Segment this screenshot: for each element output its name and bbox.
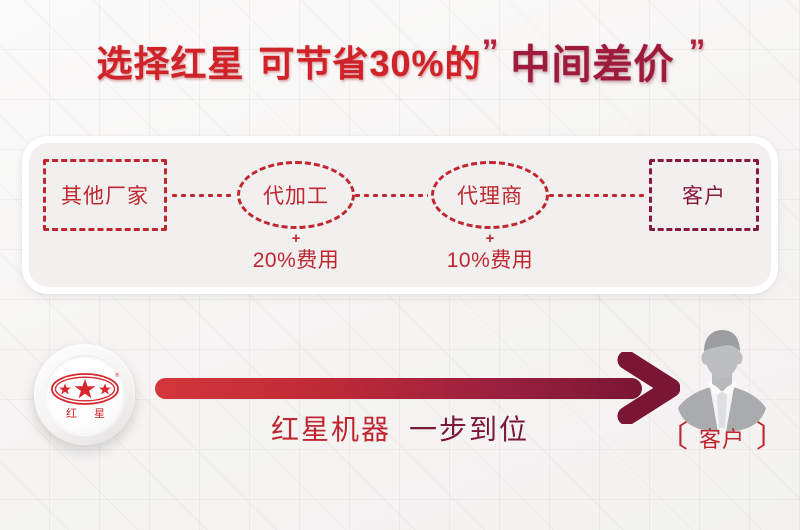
bracket-right-icon: 〕 [756,423,786,453]
flow-node-label: 客户 [682,180,726,210]
hongxing-logo-badge[interactable]: ® 红 星 [34,344,135,445]
fee-label-2: + 10%费用 [410,231,570,274]
flow-node-label: 代加工 [263,180,329,210]
hongxing-logo-icon: ® 红 星 [49,369,121,421]
middleman-flow-card: 其他厂家 代加工 + 20%费用 代理商 + 10%费用 客户 [22,136,778,294]
headline-part1: 选择红星 [96,35,244,87]
progress-arrow-icon [150,352,680,424]
fee-label-1: + 20%费用 [216,231,376,274]
poster-canvas: 选择红星 可节省30%的 ” 中间差价 ” 其他厂家 代加工 + 20%费用 [0,0,800,530]
logo-char-1: 红 [66,407,77,420]
registered-mark-icon: ® [115,372,119,379]
fee-amount: 10%费用 [410,248,570,274]
flow-diagram: 其他厂家 代加工 + 20%费用 代理商 + 10%费用 客户 [29,143,771,287]
logo-inner-disc: ® 红 星 [45,355,125,435]
logo-char-2: 星 [94,407,105,420]
flow-node-oem-processing[interactable]: 代加工 [237,161,355,229]
connector-dots-1 [170,194,234,197]
connector-dots-3 [547,194,647,197]
flow-node-label: 其他厂家 [61,180,149,210]
flow-node-other-manufacturer[interactable]: 其他厂家 [43,159,167,231]
customer-label: 客户 [699,422,745,454]
flow-node-customer[interactable]: 客户 [649,159,759,231]
flow-node-agent[interactable]: 代理商 [431,161,549,229]
headline-emphasis: 中间差价 [511,32,675,90]
quote-close-icon: ” [689,33,704,72]
flow-node-label: 代理商 [457,180,523,210]
customer-tag: 〔 客户 〕 [648,421,796,455]
fee-amount: 20%费用 [216,248,376,274]
quote-open-icon: ” [482,33,497,72]
customer-person-icon [674,328,770,432]
bracket-left-icon: 〔 [658,423,688,453]
headline-part2: 可节省30%的 [258,35,481,87]
headline: 选择红星 可节省30%的 ” 中间差价 ” [0,30,800,92]
connector-dots-2 [353,194,428,197]
fee-plus-sign: + [410,231,570,246]
fee-plus-sign: + [216,231,376,246]
